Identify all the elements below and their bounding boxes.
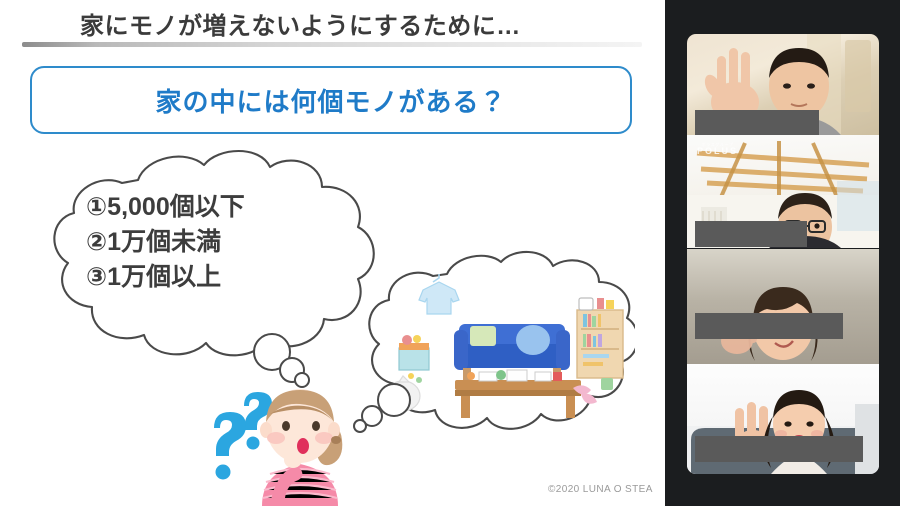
question-text: 家の中には何個モノがある？ — [155, 82, 506, 119]
option-3: ③1万個以上 — [86, 260, 376, 295]
participant-2-name-label — [695, 221, 807, 247]
participant-4-name-label — [695, 436, 863, 462]
woman-thinking-icon — [200, 378, 380, 506]
polus-watermark: ポラスグループ POLUS — [697, 143, 738, 157]
copyright-text: ©2020 LUNA O STEA — [548, 484, 653, 495]
answer-options-thought-bubble: ①5,000個以下 ②1万個未満 ③1万個以上 — [18, 145, 383, 380]
participant-video-panel: ポラスグループ POLUS — [665, 0, 900, 506]
presentation-screenshare-view: 家にモノが増えないようにするために… 家の中には何個モノがある？ ①5,000個… — [0, 0, 900, 506]
video-tile-participant-1[interactable] — [687, 34, 879, 135]
thinking-woman-illustration — [200, 378, 380, 506]
option-1: ①5,000個以下 — [86, 190, 376, 225]
video-tile-participant-4[interactable] — [687, 364, 879, 474]
participant-3-webcam-image — [687, 249, 879, 364]
answer-options-list: ①5,000個以下 ②1万個未満 ③1万個以上 — [86, 190, 376, 295]
participant-3-name-label — [695, 313, 843, 339]
question-callout-box: 家の中には何個モノがある？ — [30, 66, 632, 134]
slide-content-area: 家にモノが増えないようにするために… 家の中には何個モノがある？ ①5,000個… — [0, 0, 665, 506]
option-2: ②1万個未満 — [86, 225, 376, 260]
video-tile-participant-3[interactable] — [687, 249, 879, 364]
title-divider — [22, 42, 642, 47]
video-tile-participant-2[interactable]: ポラスグループ POLUS — [687, 135, 879, 248]
page-title: 家にモノが増えないようにするために… — [80, 6, 521, 41]
participant-1-name-label — [695, 110, 819, 135]
bookshelf-illustration — [577, 298, 623, 378]
